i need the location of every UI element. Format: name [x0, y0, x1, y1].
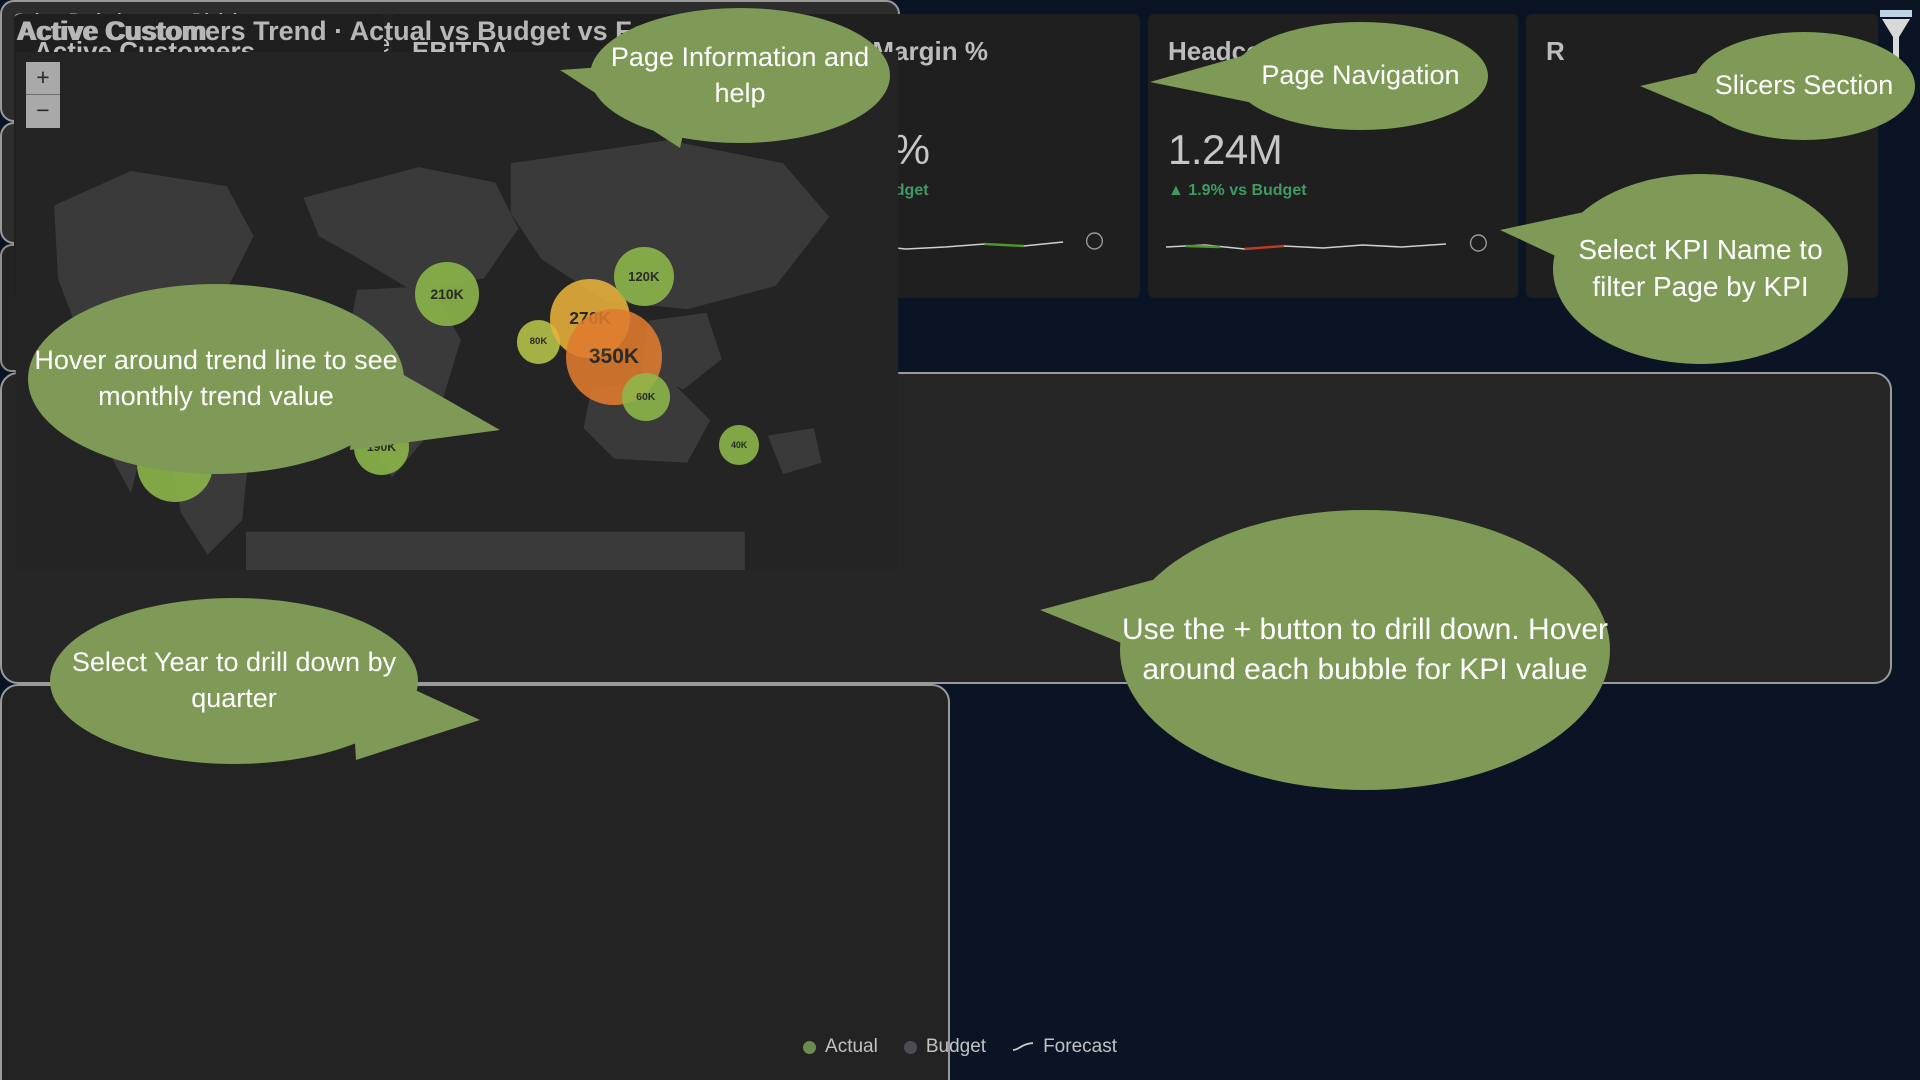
legend-swatch-actual: [803, 1041, 816, 1054]
legend-label-actual: Actual: [825, 1036, 878, 1058]
legend-label-budget: Budget: [926, 1036, 986, 1058]
dashboard-root: Executive KPI Report from Apr 2024 to M …: [0, 0, 1920, 1080]
callout-slicers-section: Slicers Section: [1693, 32, 1915, 140]
bar-chart-legend: Actual Budget Forecast: [0, 1036, 1920, 1058]
legend-swatch-budget: [904, 1041, 917, 1054]
kpi-delta: ▲ 1.9% vs Budget: [1168, 182, 1307, 200]
legend-label-forecast: Forecast: [1043, 1036, 1117, 1058]
legend-item-budget[interactable]: Budget: [904, 1036, 986, 1058]
callout-select-kpi: Select KPI Name to filter Page by KPI: [1553, 174, 1848, 364]
callout-hover-trend: Hover around trend line to see monthly t…: [28, 284, 404, 474]
legend-item-forecast[interactable]: Forecast: [1012, 1036, 1117, 1058]
kpi-value: 1.24M: [1168, 126, 1282, 174]
legend-item-actual[interactable]: Actual: [803, 1036, 878, 1058]
legend-swatch-forecast: [1012, 1041, 1034, 1053]
sparkline-trend[interactable]: [1166, 218, 1500, 264]
callout-page-navigation: Page Navigation: [1233, 22, 1488, 130]
callout-select-year: Select Year to drill down by quarter: [50, 598, 418, 764]
kpi-delta-text: 1.9% vs Budget: [1188, 182, 1306, 199]
callout-page-information: Page Information and help: [590, 8, 890, 143]
callout-map-drill: Use the + button to drill down. Hover ar…: [1120, 510, 1610, 790]
delta-up-arrow-icon: ▲: [1168, 182, 1184, 199]
kpi-title: R: [1546, 36, 1565, 67]
